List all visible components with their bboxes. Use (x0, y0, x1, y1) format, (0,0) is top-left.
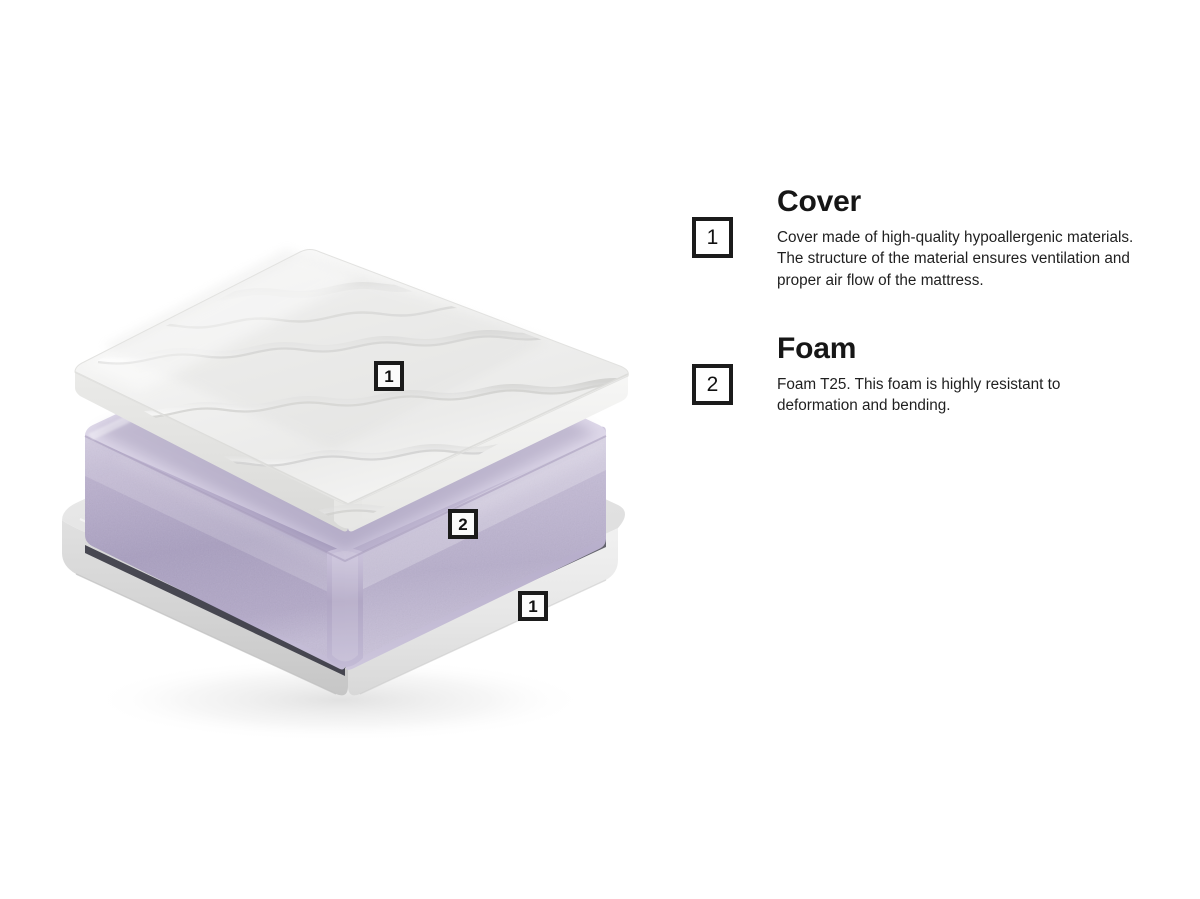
legend-item-foam: 2 Foam Foam T25. This foam is highly res… (692, 333, 1162, 417)
legend-text-foam: Foam Foam T25. This foam is highly resis… (777, 333, 1142, 417)
marker-cover-base: 1 (518, 591, 548, 621)
marker-foam-side: 2 (448, 509, 478, 539)
marker-cover-top: 1 (374, 361, 404, 391)
legend: 1 Cover Cover made of high-quality hypoa… (692, 186, 1162, 459)
legend-title-foam: Foam (777, 333, 1142, 365)
legend-body-foam: Foam T25. This foam is highly resistant … (777, 374, 1142, 417)
legend-title-cover: Cover (777, 186, 1142, 218)
mattress-layers-diagram: 1 2 1 1 Cover Cover made of high-quality… (0, 0, 1200, 899)
mattress-svg (0, 0, 700, 899)
legend-badge-2: 2 (692, 364, 733, 405)
legend-item-cover: 1 Cover Cover made of high-quality hypoa… (692, 186, 1162, 291)
legend-badge-1: 1 (692, 217, 733, 258)
legend-body-cover: Cover made of high-quality hypoallergeni… (777, 227, 1142, 292)
product-illustration: 1 2 1 (0, 0, 700, 899)
legend-text-cover: Cover Cover made of high-quality hypoall… (777, 186, 1142, 291)
